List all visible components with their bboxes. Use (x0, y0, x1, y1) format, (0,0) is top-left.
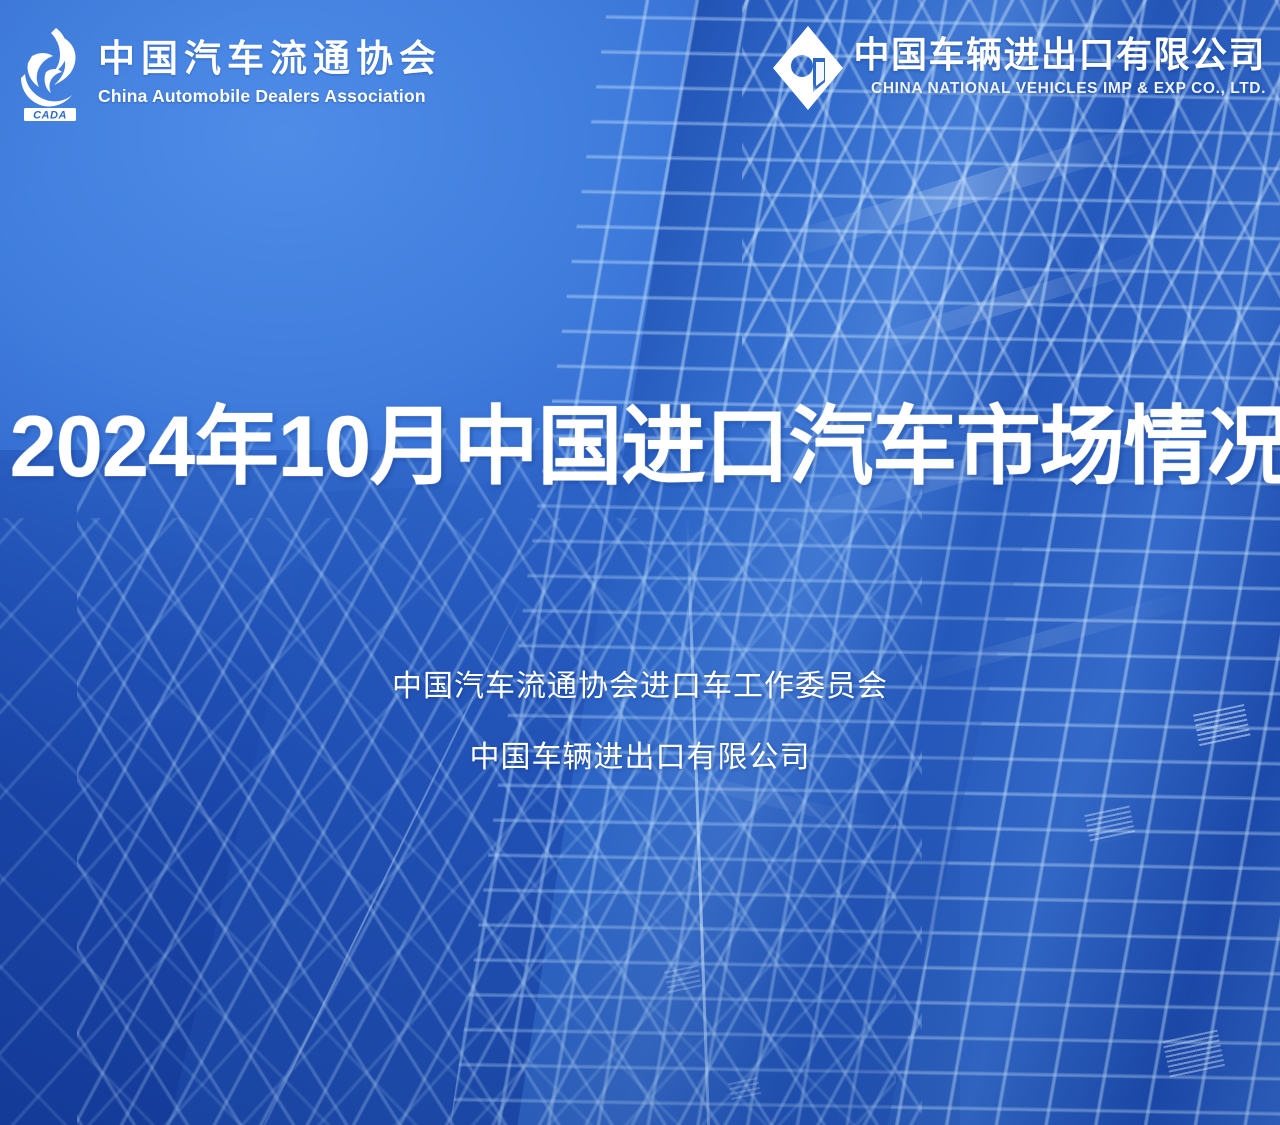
background-photo-glass-building (0, 0, 1280, 1125)
cada-chinese-name: 中国汽车流通协会 (98, 40, 442, 79)
cada-english-name: China Automobile Dealers Association (98, 86, 442, 107)
subtitle-organization-2: 中国车辆进出口有限公司 (0, 743, 1280, 773)
cnv-chinese-name: 中国车辆进出口有限公司 (853, 36, 1266, 74)
cada-logo: CADA 中国汽车流通协会 China Automobile Dealers A… (12, 22, 442, 122)
subtitle-organization-1: 中国汽车流通协会进口车工作委员会 (0, 672, 1280, 702)
photo-vignette (0, 0, 1280, 1125)
svg-text:CADA: CADA (33, 109, 67, 121)
subtitle-block: 中国汽车流通协会进口车工作委员会 中国车辆进出口有限公司 (0, 672, 1280, 773)
cada-emblem-icon: CADA (12, 22, 90, 122)
cnv-diamond-emblem-icon (769, 22, 847, 114)
title-slide: CADA 中国汽车流通协会 China Automobile Dealers A… (0, 0, 1280, 1125)
cnv-english-name: CHINA NATIONAL VEHICLES IMP & EXP CO., L… (853, 80, 1266, 98)
slide-title: 2024年10月中国进口汽车市场情况 (10, 404, 1271, 490)
cnv-logo: 中国车辆进出口有限公司 CHINA NATIONAL VEHICLES IMP … (769, 22, 1266, 114)
cnv-logo-text: 中国车辆进出口有限公司 CHINA NATIONAL VEHICLES IMP … (853, 22, 1266, 98)
cada-logo-text: 中国汽车流通协会 China Automobile Dealers Associ… (98, 22, 442, 107)
